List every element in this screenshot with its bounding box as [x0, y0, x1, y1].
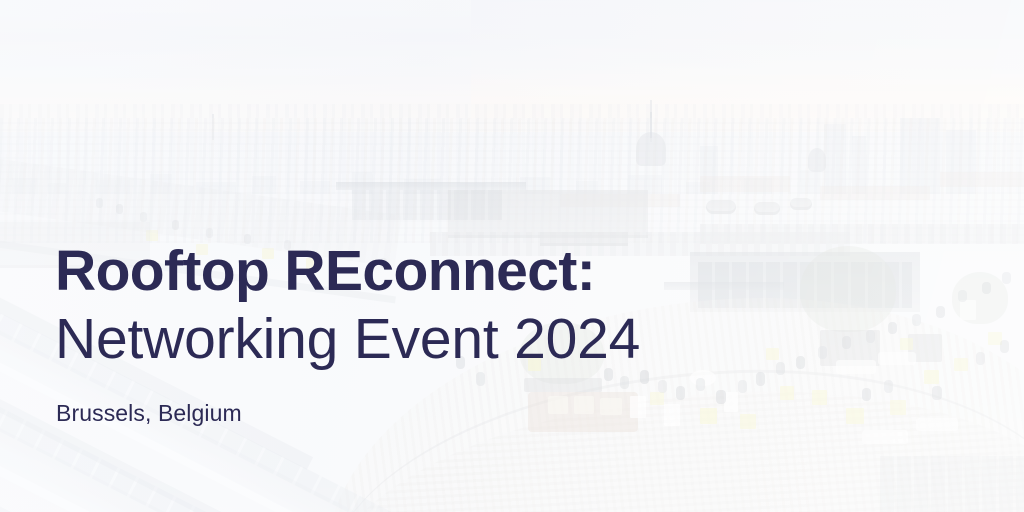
yellow-chair — [650, 392, 664, 405]
pergola-structure — [336, 182, 526, 190]
person — [912, 314, 921, 326]
person — [776, 362, 785, 375]
rooftop-tile-b — [820, 186, 930, 200]
yellow-chair — [812, 390, 827, 405]
event-hero-banner: Rooftop REconnect: Networking Event 2024… — [0, 0, 1024, 512]
white-lounger — [862, 430, 908, 444]
page-title-line-2: Networking Event 2024 — [55, 304, 640, 374]
rooftop-tile-d — [940, 172, 1024, 187]
person — [888, 322, 897, 334]
roof-duct-c — [790, 198, 812, 210]
white-lounger — [836, 360, 876, 374]
roof-parapet-band-right — [700, 224, 1024, 244]
yellow-chair — [846, 408, 864, 424]
person — [866, 330, 875, 343]
person — [676, 386, 685, 400]
person — [658, 380, 667, 393]
yellow-chair — [740, 414, 756, 429]
person — [976, 352, 985, 365]
deck-tree-large — [800, 246, 896, 332]
person — [982, 282, 991, 294]
white-lounger — [916, 418, 958, 431]
person — [716, 390, 726, 404]
church-turret — [808, 148, 826, 172]
white-lounger — [878, 352, 916, 365]
person — [936, 306, 945, 318]
roof-duct-a — [706, 200, 736, 214]
person — [796, 356, 805, 369]
person — [696, 378, 705, 391]
white-chair — [724, 392, 738, 412]
person — [738, 380, 747, 393]
white-chair — [664, 404, 680, 426]
person — [862, 388, 871, 401]
pavilion-canopy — [664, 282, 784, 290]
event-location-subtitle: Brussels, Belgium — [56, 400, 640, 427]
yellow-chair — [924, 370, 939, 384]
person — [1002, 272, 1011, 284]
person — [932, 386, 942, 400]
yellow-chair — [890, 400, 906, 415]
person — [756, 372, 765, 386]
person — [818, 346, 827, 359]
rooftop-tile-a — [700, 176, 790, 192]
person — [958, 290, 967, 302]
yellow-chair — [954, 358, 968, 371]
person — [1000, 340, 1009, 353]
yellow-chair — [700, 408, 717, 424]
white-chair — [960, 300, 976, 320]
church-spire — [650, 112, 652, 138]
person — [640, 370, 649, 384]
page-title-line-1: Rooftop REconnect: — [55, 238, 640, 304]
yellow-chair — [780, 386, 794, 400]
yellow-chair — [900, 338, 913, 350]
hero-text-block: Rooftop REconnect: Networking Event 2024… — [55, 238, 640, 427]
lower-floor-glazing — [880, 456, 1024, 512]
yellow-chair — [766, 348, 779, 360]
roof-duct-b — [754, 202, 780, 215]
person — [842, 336, 851, 349]
person — [884, 380, 893, 393]
